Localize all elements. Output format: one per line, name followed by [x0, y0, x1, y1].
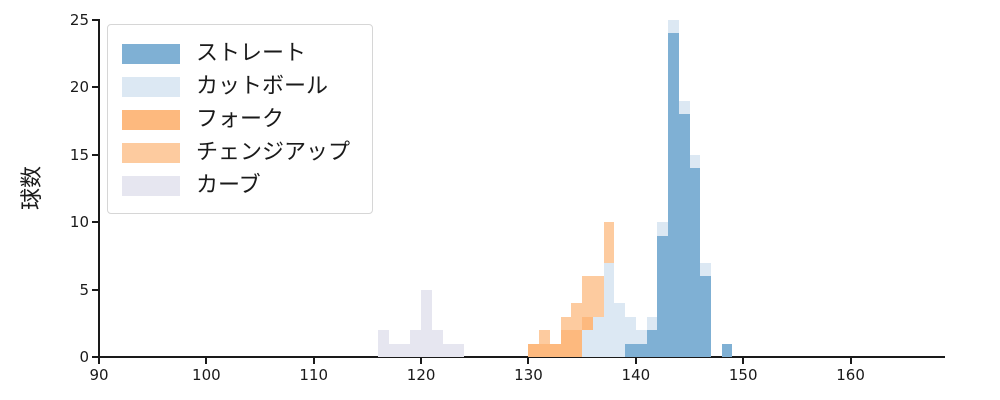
y-tick-label: 15 [70, 146, 89, 164]
legend-label: フォーク [196, 109, 284, 131]
histogram-bar [625, 317, 636, 344]
legend-item[interactable]: カーブ [122, 169, 360, 202]
legend: ストレートカットボールフォークチェンジアップカーブ [107, 24, 373, 214]
x-tick-mark [850, 358, 852, 364]
y-tick-label: 20 [70, 78, 89, 96]
histogram-bar [657, 222, 668, 235]
x-tick-label: 100 [192, 366, 221, 384]
histogram-bar [679, 101, 690, 114]
x-tick-mark [742, 358, 744, 364]
legend-item[interactable]: カットボール [122, 70, 360, 103]
histogram-bar [604, 263, 615, 357]
histogram-bar [400, 344, 411, 357]
legend-label: ストレート [196, 43, 306, 65]
histogram-bar [421, 290, 432, 357]
histogram-bar [679, 114, 690, 357]
x-tick-mark [205, 358, 207, 364]
y-tick-label: 10 [70, 213, 89, 231]
legend-swatch-icon [122, 77, 180, 97]
y-tick-mark [92, 356, 98, 358]
histogram-bar [561, 317, 572, 330]
histogram-bar [378, 330, 389, 357]
x-tick-mark [313, 358, 315, 364]
x-tick-mark [635, 358, 637, 364]
histogram-bar [668, 20, 679, 33]
x-tick-mark [420, 358, 422, 364]
histogram-bar [647, 330, 658, 357]
histogram-figure: 球数 901001101201301401501600510152025 ストレ… [0, 0, 1000, 400]
histogram-bar [539, 330, 550, 343]
legend-swatch-icon [122, 44, 180, 64]
histogram-bar [593, 317, 604, 357]
histogram-bar [539, 344, 550, 357]
histogram-bar [604, 222, 615, 262]
histogram-bar [410, 330, 421, 357]
histogram-bar [647, 317, 658, 330]
x-tick-label: 130 [514, 366, 543, 384]
histogram-bar [528, 344, 539, 357]
legend-item[interactable]: チェンジアップ [122, 136, 360, 169]
legend-swatch-icon [122, 110, 180, 130]
x-tick-label: 150 [729, 366, 758, 384]
y-tick-label: 25 [70, 11, 89, 29]
legend-label: チェンジアップ [196, 142, 350, 164]
histogram-bar [625, 344, 636, 357]
legend-swatch-icon [122, 143, 180, 163]
histogram-bar [571, 303, 582, 330]
x-tick-mark [98, 358, 100, 364]
histogram-bar [550, 344, 561, 357]
histogram-bar [582, 330, 593, 357]
histogram-bar [389, 344, 400, 357]
histogram-bar [432, 330, 443, 357]
legend-label: カーブ [196, 175, 261, 197]
histogram-bar [668, 33, 679, 357]
x-tick-label: 90 [89, 366, 108, 384]
y-tick-mark [92, 154, 98, 156]
legend-swatch-icon [122, 176, 180, 196]
y-tick-mark [92, 221, 98, 223]
histogram-bar [700, 263, 711, 276]
y-tick-mark [92, 86, 98, 88]
y-tick-label: 0 [79, 348, 89, 366]
legend-item[interactable]: ストレート [122, 37, 360, 70]
histogram-bar [690, 155, 701, 168]
x-tick-label: 160 [836, 366, 865, 384]
histogram-bar [636, 344, 647, 357]
histogram-bar [614, 303, 625, 357]
histogram-bar [690, 168, 701, 357]
histogram-bar [582, 276, 593, 316]
histogram-bar [593, 276, 604, 316]
histogram-bar [453, 344, 464, 357]
x-tick-mark [527, 358, 529, 364]
histogram-bar [561, 330, 572, 357]
histogram-bar [443, 344, 454, 357]
x-tick-label: 140 [622, 366, 651, 384]
y-tick-mark [92, 289, 98, 291]
histogram-bar [657, 236, 668, 357]
histogram-bar [571, 330, 582, 357]
histogram-bar [722, 344, 733, 357]
legend-label: カットボール [196, 76, 328, 98]
y-tick-label: 5 [79, 281, 89, 299]
y-axis-label: 球数 [14, 166, 46, 210]
histogram-bar [636, 330, 647, 343]
x-tick-label: 120 [407, 366, 436, 384]
legend-item[interactable]: フォーク [122, 103, 360, 136]
histogram-bar [700, 276, 711, 357]
histogram-bar [582, 317, 593, 330]
x-tick-label: 110 [299, 366, 328, 384]
y-tick-mark [92, 19, 98, 21]
